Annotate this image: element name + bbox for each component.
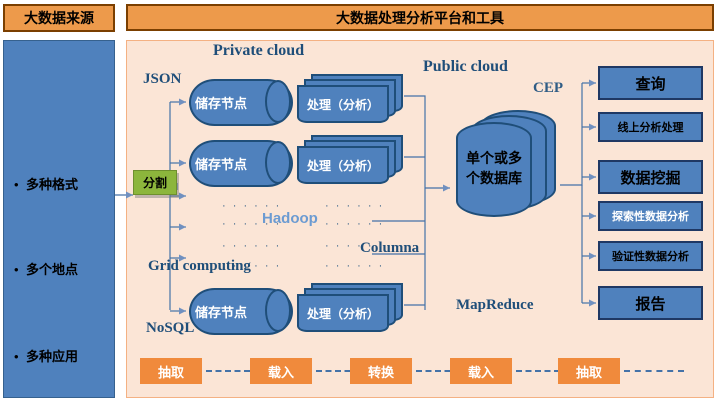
source-item-1: •多个地点: [14, 259, 110, 278]
label-nosql: NoSQL: [146, 320, 194, 337]
etl-step-3[interactable]: 载入: [450, 358, 512, 384]
etl-connector: [516, 370, 560, 372]
source-item-0-label: 多种格式: [26, 177, 78, 192]
bullet-icon: •: [14, 349, 26, 365]
ellipsis-dots: · · · · · ·: [222, 218, 281, 230]
etl-connector: [206, 370, 250, 372]
storage-node-2[interactable]: 储存节点: [189, 288, 293, 335]
bullet-icon: •: [14, 177, 26, 193]
source-item-2: •多种应用: [14, 346, 110, 365]
etl-step-4[interactable]: 抽取: [558, 358, 620, 384]
platform-title-banner: 大数据处理分析平台和工具: [126, 4, 714, 31]
ellipsis-dots: · · · · · ·: [222, 260, 281, 272]
database-label: 单个或多 个数据库: [456, 122, 532, 217]
ellipsis-dots: · · · · · ·: [222, 200, 281, 212]
source-item-1-label: 多个地点: [26, 262, 78, 277]
storage-node-0-label: 储存节点: [195, 79, 275, 126]
output-box-exploratory-analysis[interactable]: 探索性数据分析: [598, 201, 703, 231]
output-box-report[interactable]: 报告: [598, 286, 703, 320]
source-item-0: •多种格式: [14, 174, 110, 193]
output-box-data-mining[interactable]: 数据挖掘: [598, 160, 703, 194]
processing-node-2[interactable]: 处理（分析）: [297, 283, 403, 332]
ellipsis-dots: · · · · · ·: [325, 218, 384, 230]
diagram-root: 大数据来源 大数据处理分析平台和工具 •多种格式 •多个地点 •多种应用: [0, 0, 718, 402]
processing-node-0[interactable]: 处理（分析）: [297, 74, 403, 123]
etl-step-0[interactable]: 抽取: [140, 358, 202, 384]
ellipsis-dots: · · · · · ·: [325, 200, 384, 212]
etl-step-2[interactable]: 转换: [350, 358, 412, 384]
label-private-cloud: Private cloud: [213, 42, 304, 60]
storage-node-1-label: 储存节点: [195, 140, 275, 187]
database-label-line1: 单个或多: [466, 150, 522, 170]
central-database[interactable]: 单个或多 个数据库: [452, 110, 560, 215]
sources-title-banner: 大数据来源: [3, 4, 115, 32]
processing-node-1-label: 处理（分析）: [297, 146, 389, 184]
source-item-2-label: 多种应用: [26, 349, 78, 364]
storage-node-2-label: 储存节点: [195, 288, 275, 335]
label-mapreduce: MapReduce: [456, 297, 534, 314]
data-sources-panel: •多种格式 •多个地点 •多种应用: [3, 40, 115, 398]
label-json: JSON: [143, 71, 181, 88]
database-label-line2: 个数据库: [466, 170, 522, 190]
ellipsis-dots: · · · · · ·: [222, 240, 281, 252]
ellipsis-dots: · · · · · ·: [325, 240, 384, 252]
label-public-cloud: Public cloud: [423, 58, 508, 76]
etl-step-1[interactable]: 载入: [250, 358, 312, 384]
output-box-confirmatory-analysis[interactable]: 验证性数据分析: [598, 241, 703, 271]
bullet-icon: •: [14, 262, 26, 278]
output-box-query[interactable]: 查询: [598, 66, 703, 100]
split-box[interactable]: 分割: [133, 170, 177, 195]
output-box-olap[interactable]: 线上分析处理: [598, 112, 703, 142]
label-cep: CEP: [533, 80, 563, 97]
processing-node-2-label: 处理（分析）: [297, 294, 389, 332]
etl-connector-tail: [624, 370, 684, 372]
storage-node-0[interactable]: 储存节点: [189, 79, 293, 126]
ellipsis-dots: · · · · · ·: [325, 260, 384, 272]
processing-node-0-label: 处理（分析）: [297, 85, 389, 123]
storage-node-1[interactable]: 储存节点: [189, 140, 293, 187]
processing-node-1[interactable]: 处理（分析）: [297, 135, 403, 184]
